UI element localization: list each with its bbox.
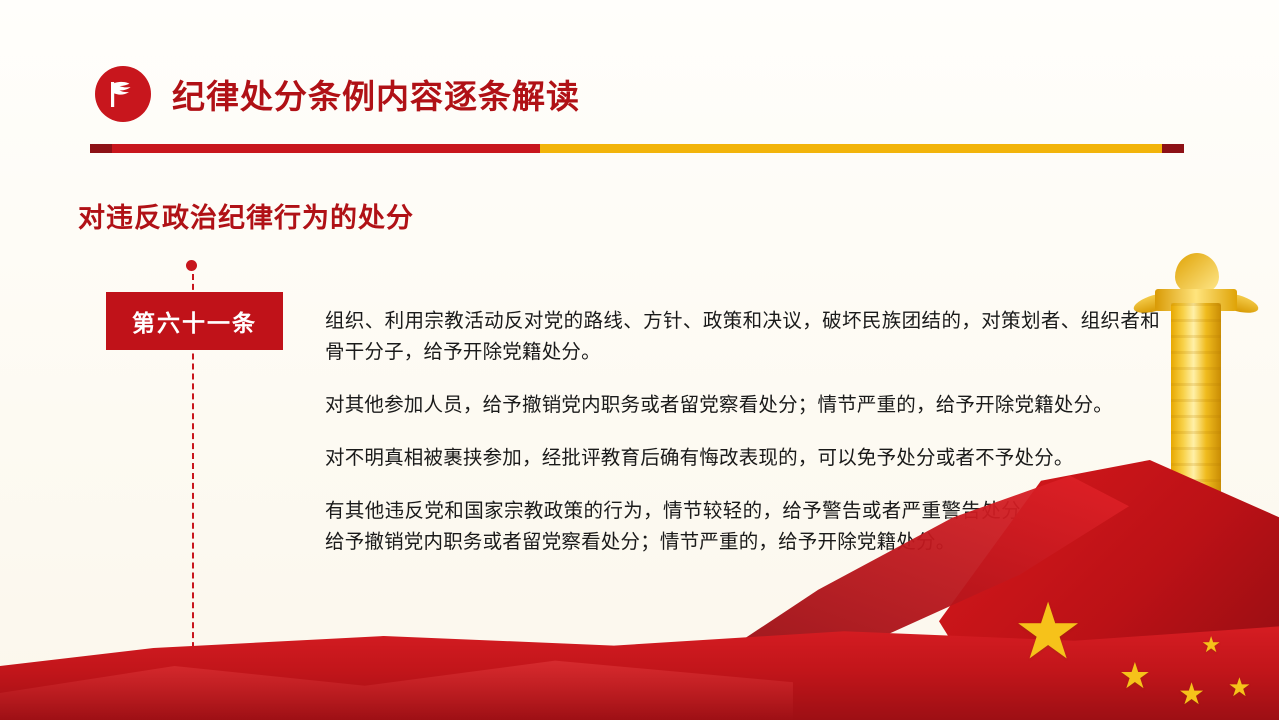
divider-segment-dark-left [90, 144, 112, 153]
ribbon-fold-highlight [0, 630, 793, 720]
column-wing-right [1214, 289, 1261, 317]
page-title: 纪律处分条例内容逐条解读 [172, 70, 580, 118]
star-icon: ★ [1119, 658, 1151, 694]
timeline-arrow-icon [185, 660, 199, 673]
star-icon: ★ [1201, 634, 1221, 656]
slide-root: 纪律处分条例内容逐条解读 对违反政治纪律行为的处分 第六十一条 组织、利用宗教活… [0, 0, 1279, 720]
header-divider [90, 144, 1184, 153]
divider-segment-red [112, 144, 540, 153]
party-emblem-icon [95, 66, 151, 122]
divider-segment-gold [540, 144, 1162, 153]
star-icon: ★ [1178, 680, 1205, 710]
slide-header: 纪律处分条例内容逐条解读 [0, 56, 1279, 136]
column-base [1157, 635, 1235, 655]
column-top-ornament [1175, 253, 1219, 293]
star-icon: ★ [1013, 592, 1083, 670]
star-icon: ★ [1228, 674, 1251, 700]
divider-segment-dark-right [1162, 144, 1184, 153]
section-title: 对违反政治纪律行为的处分 [78, 196, 414, 235]
column-capital [1155, 289, 1237, 311]
article-paragraph: 对不明真相被裹挟参加，经批评教育后确有悔改表现的，可以免予处分或者不予处分。 [325, 443, 1160, 474]
article-paragraph: 对其他参加人员，给予撤销党内职务或者留党察看处分；情节严重的，给予开除党籍处分。 [325, 390, 1160, 421]
article-body: 组织、利用宗教活动反对党的路线、方针、政策和决议，破坏民族团结的，对策划者、组织… [325, 286, 1160, 558]
article-paragraph: 组织、利用宗教活动反对党的路线、方针、政策和决议，破坏民族团结的，对策划者、组织… [325, 306, 1160, 368]
column-shaft [1171, 303, 1221, 653]
article-number-badge: 第六十一条 [106, 292, 283, 350]
article-paragraph: 有其他违反党和国家宗教政策的行为，情节较轻的，给予警告或者严重警告处分；情节较重… [325, 496, 1160, 558]
